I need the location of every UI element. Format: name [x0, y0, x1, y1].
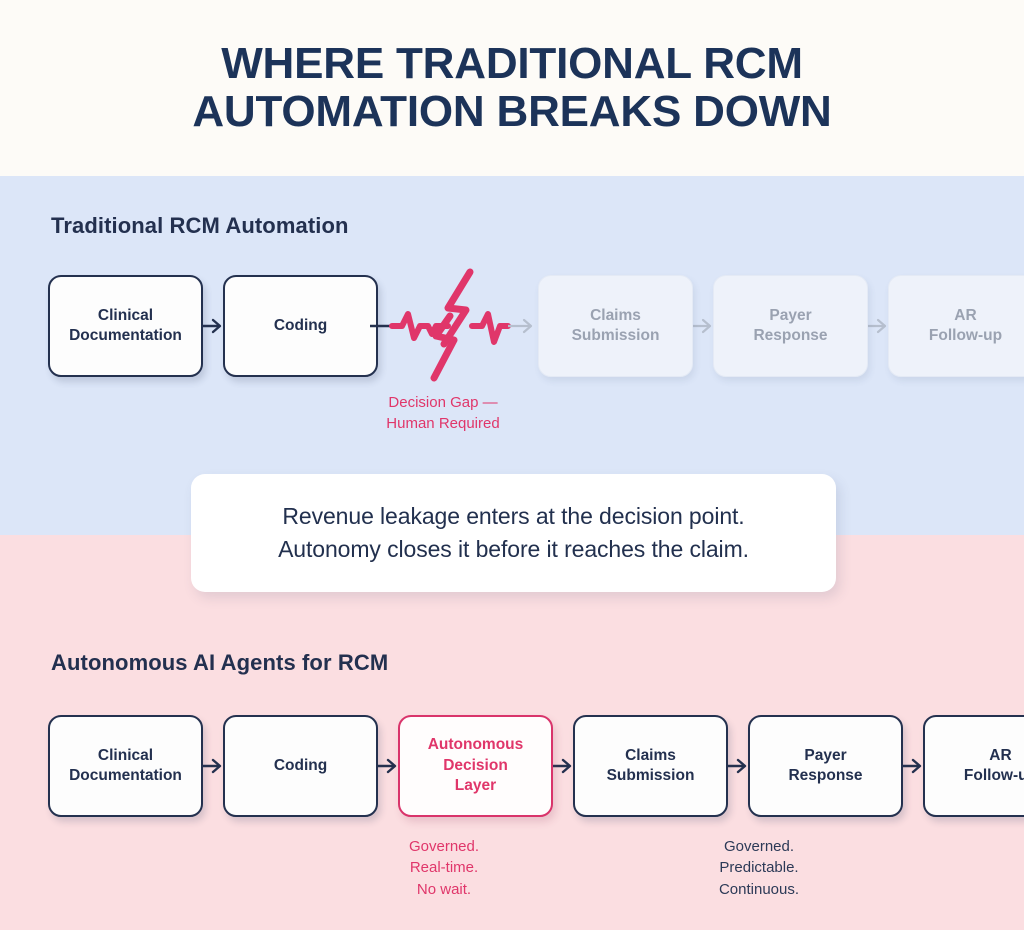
node-label: ClaimsSubmission [601, 746, 701, 787]
decision-layer-caption: Governed. Real-time. No wait. [379, 836, 509, 900]
page-title-line-2: AUTOMATION BREAKS DOWN [0, 88, 1024, 136]
node-label: Coding [268, 756, 333, 776]
page-title-line-1: WHERE TRADITIONAL RCM [0, 40, 1024, 88]
page-title: WHERE TRADITIONAL RCM AUTOMATION BREAKS … [0, 40, 1024, 135]
node-label: ClinicalDocumentation [63, 306, 188, 347]
decision-gap-caption-line-2: Human Required [352, 413, 534, 434]
node-label: ClinicalDocumentation [63, 746, 188, 787]
node-claims-submission-autonomous[interactable]: ClaimsSubmission [573, 715, 728, 817]
payer-response-caption-line-1: Governed. [693, 836, 825, 857]
callout-line-2: Autonomy closes it before it reaches the… [278, 533, 749, 566]
decision-layer-caption-line-3: No wait. [379, 879, 509, 900]
callout-card: Revenue leakage enters at the decision p… [191, 474, 836, 592]
arrow-connector-5-autonomous [903, 754, 923, 778]
arrow-connector-3-traditional [693, 314, 713, 338]
section-heading-autonomous: Autonomous AI Agents for RCM [51, 650, 388, 676]
flow-row-traditional: ClinicalDocumentation Coding ClaimsS [48, 275, 976, 377]
node-label: PayerResponse [782, 746, 868, 787]
arrow-connector-1-traditional [203, 314, 223, 338]
broken-ekg-lightning-icon [378, 270, 538, 382]
node-label: ARFollow-up [923, 306, 1008, 347]
node-label: PayerResponse [747, 306, 833, 347]
node-ar-followup-autonomous[interactable]: ARFollow-up [923, 715, 1024, 817]
arrow-connector-1-autonomous [203, 754, 223, 778]
node-coding-autonomous[interactable]: Coding [223, 715, 378, 817]
node-clinical-documentation-autonomous[interactable]: ClinicalDocumentation [48, 715, 203, 817]
node-payer-response-autonomous[interactable]: PayerResponse [748, 715, 903, 817]
flow-row-autonomous: ClinicalDocumentation Coding AutonomousD… [48, 715, 976, 817]
section-heading-traditional: Traditional RCM Automation [51, 213, 349, 239]
node-payer-response-traditional[interactable]: PayerResponse [713, 275, 868, 377]
node-label: ARFollow-up [958, 746, 1024, 787]
arrow-connector-4-traditional [868, 314, 888, 338]
node-label: ClaimsSubmission [566, 306, 666, 347]
payer-response-caption: Governed. Predictable. Continuous. [693, 836, 825, 900]
node-autonomous-decision-layer[interactable]: AutonomousDecisionLayer [398, 715, 553, 817]
arrow-connector-4-autonomous [728, 754, 748, 778]
node-label: Coding [268, 316, 333, 336]
payer-response-caption-line-2: Predictable. [693, 857, 825, 878]
node-label: AutonomousDecisionLayer [422, 735, 530, 796]
payer-response-caption-line-3: Continuous. [693, 879, 825, 900]
decision-layer-caption-line-2: Real-time. [379, 857, 509, 878]
node-ar-followup-traditional[interactable]: ARFollow-up [888, 275, 1024, 377]
decision-gap-caption-line-1: Decision Gap — [352, 392, 534, 413]
decision-gap-caption: Decision Gap — Human Required [352, 392, 534, 435]
node-clinical-documentation-traditional[interactable]: ClinicalDocumentation [48, 275, 203, 377]
arrow-connector-3-autonomous [553, 754, 573, 778]
node-coding-traditional[interactable]: Coding [223, 275, 378, 377]
decision-gap-break [378, 271, 538, 381]
decision-layer-caption-line-1: Governed. [379, 836, 509, 857]
node-claims-submission-traditional[interactable]: ClaimsSubmission [538, 275, 693, 377]
arrow-connector-2-autonomous [378, 754, 398, 778]
callout-line-1: Revenue leakage enters at the decision p… [282, 500, 744, 533]
